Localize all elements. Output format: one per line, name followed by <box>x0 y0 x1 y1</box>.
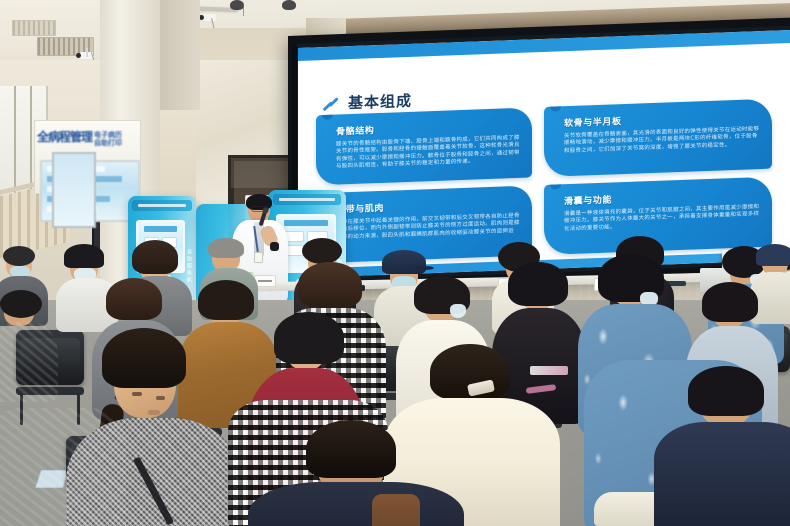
curly-hair <box>106 278 162 320</box>
security-camera-icon <box>203 14 216 21</box>
hair <box>3 246 35 266</box>
torso-navy <box>248 482 464 526</box>
audience-member <box>0 296 60 406</box>
slide-card-cartilage-meniscus: 软骨与半月板 关节软骨覆盖在骨骼表面，其光滑的表面和良好的弹性使得关节在运动时能… <box>544 99 772 177</box>
mouth <box>148 410 160 415</box>
slide-card-grid: 骨骼结构 膝关节的骨骼结构由股骨下端、胫骨上端和髌骨构成，它们共同构成了膝关节的… <box>316 99 772 264</box>
torso-patterned <box>0 408 126 526</box>
dome-camera-icon <box>282 0 296 10</box>
hair <box>274 312 344 364</box>
kiosk-header-panel <box>132 200 192 211</box>
kiosk-screen-title <box>144 226 177 232</box>
presentation-slide: 基本组成 骨骼结构 膝关节的骨骼结构由股骨下端、胫骨上端和髌骨构成，它们共同构成… <box>298 30 790 278</box>
shoulder-bag <box>372 494 420 526</box>
eye <box>132 392 142 396</box>
wall-signage-sub1: 电子病历 <box>94 132 122 140</box>
speaker-watch-icon <box>270 242 279 251</box>
slide-title: 基本组成 <box>348 90 412 113</box>
side-wall-display <box>52 152 96 228</box>
hair <box>198 280 254 320</box>
navy-cap-icon <box>382 250 426 274</box>
hair <box>0 290 42 318</box>
camera-mount <box>86 48 88 57</box>
double-slash-icon <box>322 95 341 111</box>
cap-brim <box>414 266 434 270</box>
hair <box>306 420 396 478</box>
eye <box>156 396 165 400</box>
hair <box>702 282 758 322</box>
lecture-scene-photo: 全病程管理 电子病历 自助打印 基本组成 骨骼结构 膝关节的骨骼结构由股骨下端、… <box>0 0 790 526</box>
card-body: 滑囊是一种液体填充的囊袋，位于关节和肌腱之间，其主要作用是减少摩擦和缓冲压力。膝… <box>564 204 761 233</box>
audience-member-foreground <box>660 380 790 526</box>
torso-patterned <box>0 322 58 402</box>
dome-camera-wire <box>243 4 244 16</box>
card-body: 膝关节的骨骼结构由股骨下端、胫骨上端和髌骨构成，它们共同构成了膝关节的骨性框架。… <box>336 135 521 171</box>
card-body: 韧带在膝关节中起着关键的作用，前交叉韧带和后交叉韧带各自防止胫骨的前后移位，而内… <box>336 213 521 249</box>
gray-hair <box>208 238 244 258</box>
structural-pillar-secondary <box>160 0 200 110</box>
card-body: 关节软骨覆盖在骨骼表面，其光滑的表面和良好的弹性使得关节在运动时能够顺畅地滑动，… <box>564 126 761 155</box>
torso <box>654 422 790 526</box>
slide-title-row: 基本组成 <box>322 90 412 114</box>
hair <box>508 262 568 306</box>
hair <box>132 240 178 274</box>
face-mask-icon <box>450 304 466 318</box>
navy-cap-icon <box>756 244 790 266</box>
ceiling-vent-secondary-icon <box>12 20 56 36</box>
black-cap-icon <box>64 244 104 268</box>
hair <box>102 328 186 388</box>
card-title: 骨骼结构 <box>336 118 521 138</box>
slide-card-bone-structure: 骨骼结构 膝关节的骨骼结构由股骨下端、胫骨上端和髌骨构成，它们共同构成了膝关节的… <box>316 107 532 185</box>
audience-member-foreground <box>0 408 120 526</box>
hair <box>298 262 362 308</box>
wall-signage-sub2: 自助打印 <box>94 140 122 148</box>
hair <box>688 366 764 416</box>
dome-camera-icon <box>230 0 244 10</box>
hair <box>302 238 342 264</box>
card-title: 韧带与肌肉 <box>336 196 521 216</box>
audience-member-foreground <box>262 438 452 526</box>
wall-signage-main: 全病程管理 <box>37 131 92 143</box>
